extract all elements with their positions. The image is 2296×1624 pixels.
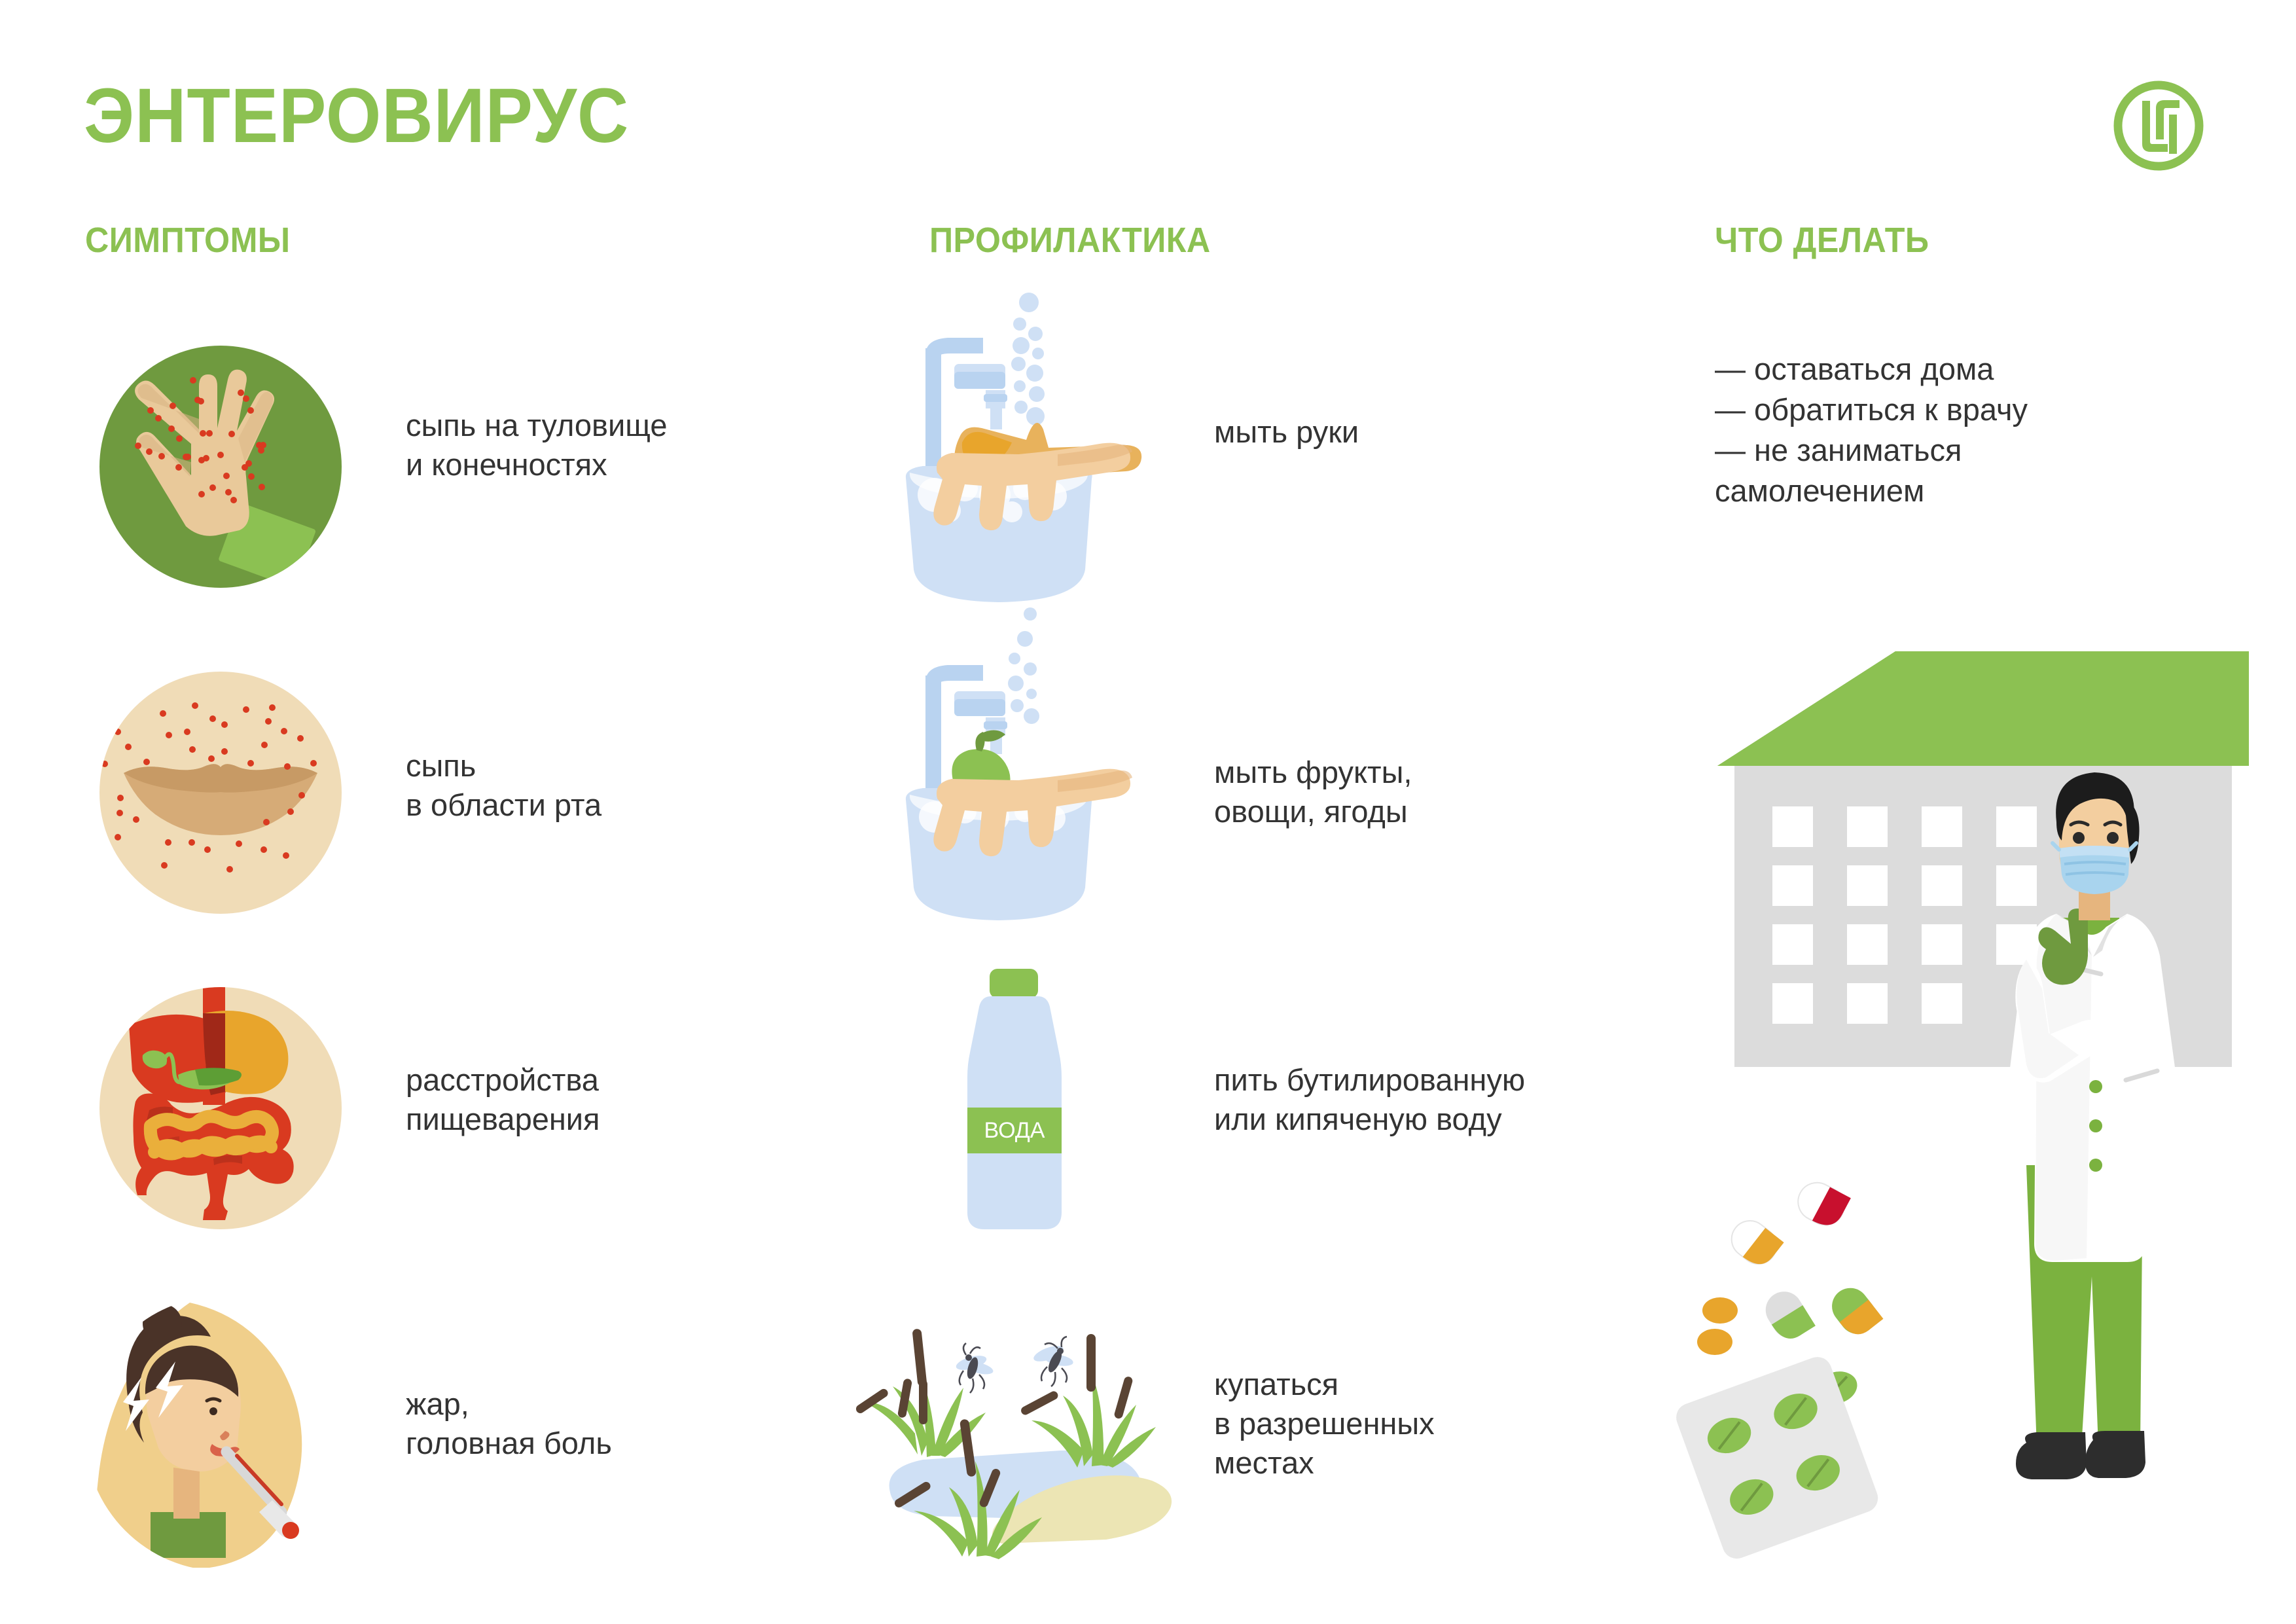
- symptom-text-3: расстройства пищеварения: [406, 1060, 825, 1139]
- mosquito-icon: [954, 1343, 994, 1393]
- prevention-text-1: мыть руки: [1214, 412, 1672, 452]
- water-bottle-icon: ВОДА: [942, 969, 1086, 1244]
- prevention-text-4: купаться в разрешенных местах: [1214, 1365, 1659, 1483]
- mouth-with-rash-icon: [99, 672, 342, 914]
- page-title: ЭНТЕРОВИРУС: [84, 77, 629, 154]
- symptom-text-4: жар, головная боль: [406, 1384, 825, 1463]
- todo-line-2: — обратиться к врачу: [1715, 389, 2212, 429]
- washing-hands-icon: [897, 288, 1145, 628]
- todo-line-1: — оставаться дома: [1715, 349, 2212, 389]
- doctor-in-mask-icon: [1964, 759, 2225, 1538]
- symptom-text-1: сыпь на туловище и конечностях: [406, 406, 825, 484]
- heading-symptoms: СИМПТОМЫ: [85, 223, 291, 258]
- woman-with-fever-icon: [85, 1296, 360, 1571]
- pills-and-blister-pack-icon: [1682, 1139, 1996, 1532]
- logo-icon: [2111, 79, 2206, 173]
- water-bottle-label: ВОДА: [984, 1118, 1045, 1143]
- pond-with-reeds-icon: [864, 1303, 1178, 1564]
- mosquito-icon-2: [1031, 1337, 1074, 1386]
- todo-line-4: самолечением: [1715, 471, 2212, 511]
- digestive-system-icon: [99, 987, 342, 1229]
- prevention-text-2: мыть фрукты, овощи, ягоды: [1214, 753, 1672, 831]
- heading-what-to-do: ЧТО ДЕЛАТЬ: [1715, 223, 1929, 258]
- todo-line-3: — не заниматься: [1715, 430, 2212, 470]
- heading-prevention: ПРОФИЛАКТИКА: [929, 223, 1211, 258]
- prevention-text-3: пить бутилированную или кипяченую воду: [1214, 1060, 1712, 1139]
- hand-with-rash-icon: [99, 346, 342, 588]
- symptom-text-2: сыпь в области рта: [406, 746, 825, 825]
- washing-fruit-icon: [897, 628, 1145, 943]
